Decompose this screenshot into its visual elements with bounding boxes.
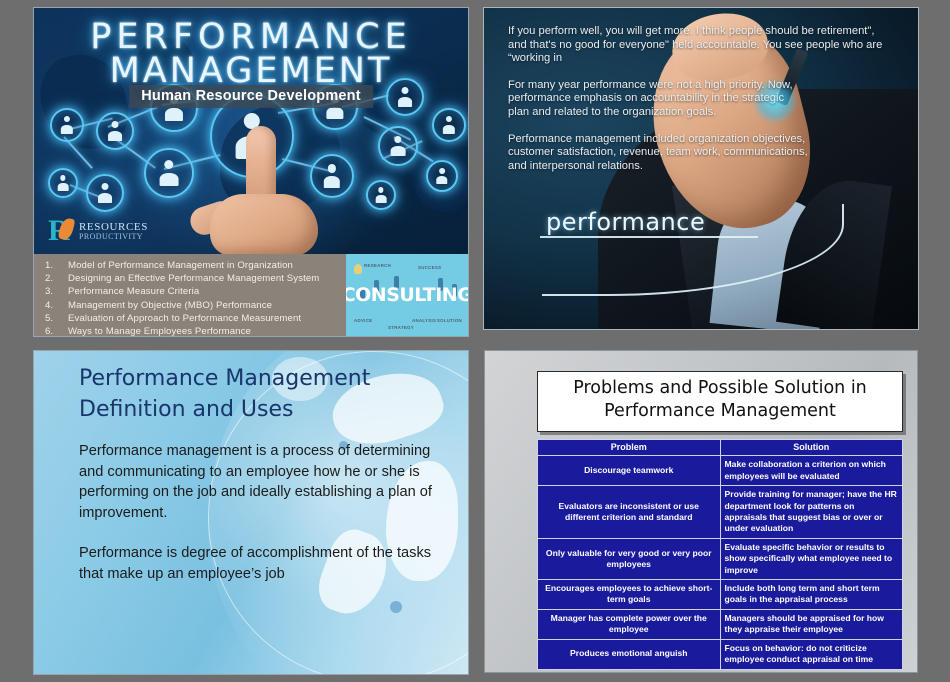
table-head: Problem Solution — [538, 440, 903, 456]
slide-definition-and-uses[interactable]: Performance Management Definition and Us… — [33, 350, 469, 675]
person-node — [50, 108, 84, 142]
consulting-graphic: RESEARCH SUCCESS ADVICE STRATEGY ANALYSI… — [346, 254, 468, 336]
slide1-title-line2: MANAGEMENT — [34, 54, 468, 88]
slide-performance-emphasis[interactable]: If you perform well, you will get more. … — [483, 7, 919, 330]
cell-problem: Produces emotional anguish — [538, 639, 721, 669]
table-header-solution: Solution — [720, 440, 903, 456]
table-row: Discourage teamwork Make collaboration a… — [538, 456, 903, 486]
cell-problem: Evaluators are inconsistent or use diffe… — [538, 486, 721, 539]
table-row: Produces emotional anguish Focus on beha… — [538, 639, 903, 669]
table-row: Only valuable for very good or very poor… — [538, 538, 903, 579]
agenda-label: Performance Measure Criteria — [68, 285, 199, 298]
consulting-label-research: RESEARCH — [364, 263, 391, 268]
slide-problems-and-solutions[interactable]: Problems and Possible Solution in Perfor… — [484, 350, 918, 673]
cell-problem: Only valuable for very good or very poor… — [538, 538, 721, 579]
cell-solution: Make collaboration a criterion on which … — [720, 456, 903, 486]
cell-problem: Discourage teamwork — [538, 456, 721, 486]
consulting-label-analysis: ANALYSIS — [412, 318, 436, 323]
agenda-item: 3.Performance Measure Criteria — [42, 285, 346, 298]
slide2-paragraph-1: If you perform well, you will get more. … — [508, 25, 890, 66]
slide3-title-line1: Performance Management — [79, 363, 448, 394]
agenda-item: 4.Management by Objective (MBO) Performa… — [42, 299, 346, 312]
agenda-item: 6.Ways to Manage Employees Performance — [42, 325, 346, 337]
agenda-item: 2.Designing an Effective Performance Man… — [42, 272, 346, 285]
slide-grid: PERFORMANCE MANAGEMENT Human Resource De… — [0, 0, 950, 682]
consulting-word: CONSULTING — [346, 284, 468, 306]
baseline-underline — [540, 236, 758, 238]
slide2-paragraph-2: For many year performance were not a hig… — [508, 79, 808, 120]
agenda-number: 2. — [42, 272, 61, 285]
agenda-number: 6. — [42, 325, 61, 337]
person-node — [426, 160, 458, 192]
lightbulb-icon — [354, 264, 362, 274]
agenda-number: 3. — [42, 285, 61, 298]
slide3-paragraph-1: Performance management is a process of d… — [79, 441, 446, 523]
agenda-item: 5.Evaluation of Approach to Performance … — [42, 312, 346, 325]
table-header-row: Problem Solution — [538, 440, 903, 456]
agenda-label: Designing an Effective Performance Manag… — [68, 272, 319, 285]
cell-problem: Encourages employees to achieve short-te… — [538, 580, 721, 610]
agenda-item: 1.Model of Performance Management in Org… — [42, 259, 346, 272]
slide4-title-line2: Performance Management — [544, 400, 896, 423]
cell-solution: Provide training for manager; have the H… — [720, 486, 903, 539]
agenda-number: 1. — [42, 259, 61, 272]
cell-solution: Include both long term and short term go… — [720, 580, 903, 610]
slide4-title: Problems and Possible Solution in Perfor… — [537, 371, 903, 432]
person-node — [96, 112, 134, 150]
person-node — [310, 154, 354, 198]
slide2-text-block: If you perform well, you will get more. … — [508, 25, 808, 186]
slide1-agenda: 1.Model of Performance Management in Org… — [34, 254, 468, 336]
table-row: Encourages employees to achieve short-te… — [538, 580, 903, 610]
resources-productivity-logo: R RESOURCES PRODUCTIVITY — [48, 216, 148, 246]
handwritten-performance-text: performance — [546, 208, 705, 236]
slide-title-performance-management[interactable]: PERFORMANCE MANAGEMENT Human Resource De… — [33, 7, 469, 337]
person-node — [432, 108, 466, 142]
table-row: Manager has complete power over the empl… — [538, 609, 903, 639]
slide3-body: Performance management is a process of d… — [79, 441, 446, 604]
problems-solutions-table-wrapper: Problem Solution Discourage teamwork Mak… — [537, 439, 903, 664]
agenda-number: 5. — [42, 312, 61, 325]
person-node — [366, 180, 396, 210]
consulting-label-strategy: STRATEGY — [388, 325, 414, 330]
problems-solutions-table: Problem Solution Discourage teamwork Mak… — [537, 439, 903, 670]
consulting-label-success: SUCCESS — [418, 265, 441, 270]
cell-solution: Focus on behavior: do not criticize empl… — [720, 639, 903, 669]
slide3-paragraph-2: Performance is degree of accomplishment … — [79, 543, 446, 584]
logo-text: RESOURCES PRODUCTIVITY — [79, 222, 148, 241]
consulting-label-solution: SOLUTION — [437, 318, 462, 323]
slide1-title: PERFORMANCE MANAGEMENT — [34, 20, 468, 89]
cell-solution: Evaluate specific behavior or results to… — [720, 538, 903, 579]
person-node — [378, 126, 418, 166]
agenda-label: Model of Performance Management in Organ… — [68, 259, 293, 272]
slide3-title: Performance Management Definition and Us… — [79, 363, 448, 425]
cell-solution: Managers should be appraised for how the… — [720, 609, 903, 639]
person-node — [48, 168, 78, 198]
agenda-list: 1.Model of Performance Management in Org… — [34, 254, 346, 336]
table-row: Evaluators are inconsistent or use diffe… — [538, 486, 903, 539]
logo-r-icon: R — [48, 216, 74, 246]
slide3-title-line2: Definition and Uses — [79, 394, 448, 425]
agenda-label: Evaluation of Approach to Performance Me… — [68, 312, 301, 325]
table-header-problem: Problem — [538, 440, 721, 456]
person-node — [86, 174, 124, 212]
logo-line2: PRODUCTIVITY — [79, 233, 148, 241]
slide4-title-line1: Problems and Possible Solution in — [544, 377, 896, 400]
person-node — [144, 148, 194, 198]
logo-line1: RESOURCES — [79, 222, 148, 233]
consulting-label-advice: ADVICE — [354, 318, 372, 323]
table-body: Discourage teamwork Make collaboration a… — [538, 456, 903, 669]
slide1-hero-image: PERFORMANCE MANAGEMENT Human Resource De… — [34, 8, 468, 254]
slide2-paragraph-3: Performance management included organiza… — [508, 133, 808, 174]
agenda-number: 4. — [42, 299, 61, 312]
agenda-label: Ways to Manage Employees Performance — [68, 325, 251, 337]
slide1-subtitle: Human Resource Development — [129, 85, 373, 108]
hand-palm — [210, 194, 318, 254]
cell-problem: Manager has complete power over the empl… — [538, 609, 721, 639]
agenda-label: Management by Objective (MBO) Performanc… — [68, 299, 272, 312]
